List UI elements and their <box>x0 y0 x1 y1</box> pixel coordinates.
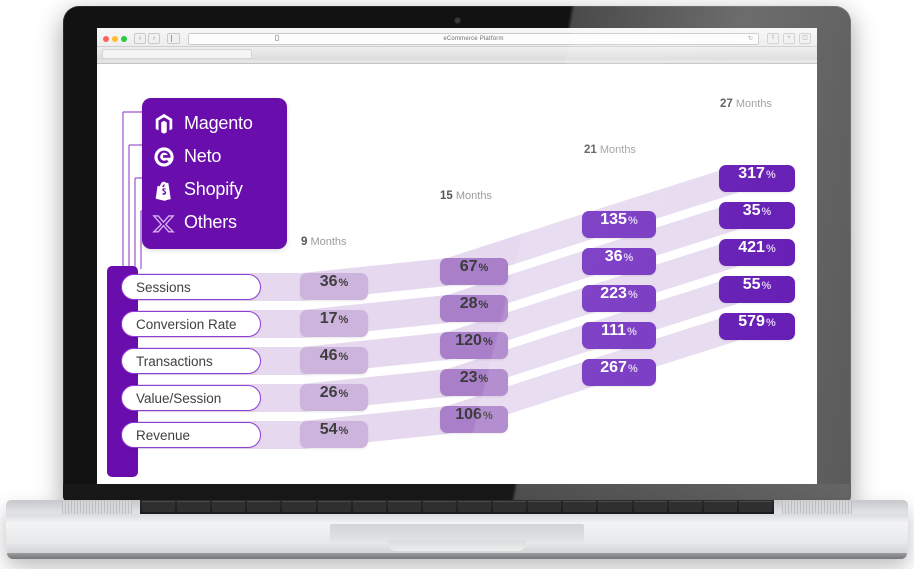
add-tab-icon[interactable]: + <box>783 33 795 44</box>
tabs-icon[interactable]: ◫ <box>799 33 811 44</box>
percent-symbol: % <box>762 206 772 218</box>
value-9m-transactions[interactable]: 46 % <box>300 347 368 374</box>
key <box>353 501 386 512</box>
value-number: 106 <box>455 406 482 424</box>
key <box>318 501 351 512</box>
browser-tab[interactable] <box>102 49 252 59</box>
column-header-unit: Months <box>310 236 346 248</box>
share-icon[interactable]: ⇧ <box>767 33 779 44</box>
value-number: 579 <box>738 313 765 331</box>
speaker-grille-right <box>782 501 852 514</box>
key <box>669 501 702 512</box>
base-front-notch <box>388 540 526 551</box>
value-9m-revenue[interactable]: 54 % <box>300 421 368 448</box>
percent-symbol: % <box>339 388 349 400</box>
bookmarks-bar[interactable] <box>97 46 817 60</box>
metric-label-value-session[interactable]: Value/Session <box>121 385 261 411</box>
key <box>598 501 631 512</box>
column-header-number: 27 <box>720 98 733 110</box>
navigation-buttons[interactable]: ‹ › <box>134 33 160 44</box>
minimize-window-button[interactable] <box>112 36 118 42</box>
value-number: 67 <box>460 258 478 276</box>
legend-label: Shopify <box>184 179 243 200</box>
forward-button[interactable]: › <box>148 33 160 44</box>
metric-label-conversion-rate[interactable]: Conversion Rate <box>121 311 261 337</box>
value-15m-revenue[interactable]: 106 % <box>440 406 508 433</box>
value-27m-value-session[interactable]: 55 % <box>719 276 795 303</box>
value-15m-sessions[interactable]: 67 % <box>440 258 508 285</box>
percent-symbol: % <box>339 425 349 437</box>
infographic-canvas: Magento Neto Shopify <box>97 64 817 484</box>
percent-symbol: % <box>766 243 776 255</box>
percent-symbol: % <box>762 280 772 292</box>
close-window-button[interactable] <box>103 36 109 42</box>
value-21m-transactions[interactable]: 223 % <box>582 285 656 312</box>
legend-label: Others <box>184 212 237 233</box>
address-bar[interactable]: eCommerce Platform ↻ <box>188 33 759 45</box>
key <box>493 501 526 512</box>
value-9m-value-session[interactable]: 26 % <box>300 384 368 411</box>
percent-symbol: % <box>766 169 776 181</box>
shopify-icon <box>152 178 175 201</box>
percent-symbol: % <box>628 289 638 301</box>
key <box>142 501 175 512</box>
column-header-9-months: 9 Months <box>301 236 347 248</box>
value-number: 111 <box>601 322 626 340</box>
percent-symbol: % <box>628 363 638 375</box>
column-header-number: 15 <box>440 190 453 202</box>
value-27m-conversion-rate[interactable]: 35 % <box>719 202 795 229</box>
value-9m-conversion-rate[interactable]: 17 % <box>300 310 368 337</box>
column-header-unit: Months <box>456 190 492 202</box>
column-header-21-months: 21 Months <box>584 144 636 156</box>
percent-symbol: % <box>628 215 638 227</box>
value-number: 46 <box>320 347 338 365</box>
key <box>704 501 737 512</box>
others-x-icon <box>152 211 175 234</box>
column-header-15-months: 15 Months <box>440 190 492 202</box>
value-number: 223 <box>600 285 627 303</box>
value-number: 35 <box>743 202 761 220</box>
column-header-unit: Months <box>600 144 636 156</box>
column-header-number: 21 <box>584 144 597 156</box>
toolbar-right-icons[interactable]: ⇧ + ◫ <box>767 33 811 44</box>
value-number: 135 <box>600 211 627 229</box>
percent-symbol: % <box>479 262 489 274</box>
webcam-icon <box>455 18 460 23</box>
laptop-screen: ‹ › eCommerce Platform ↻ ⇧ + ◫ <box>97 28 817 484</box>
browser-toolbar: ‹ › eCommerce Platform ↻ ⇧ + ◫ <box>97 28 817 46</box>
value-number: 55 <box>743 276 761 294</box>
key <box>212 501 245 512</box>
value-number: 267 <box>600 359 627 377</box>
legend-label: Neto <box>184 146 221 167</box>
percent-symbol: % <box>624 252 634 264</box>
legend-connector-lines <box>123 112 143 269</box>
value-21m-sessions[interactable]: 135 % <box>582 211 656 238</box>
value-number: 36 <box>605 248 623 266</box>
value-number: 120 <box>455 332 482 350</box>
metric-label-sessions[interactable]: Sessions <box>121 274 261 300</box>
value-number: 421 <box>738 239 765 257</box>
value-number: 28 <box>460 295 478 313</box>
key <box>563 501 596 512</box>
maximize-window-button[interactable] <box>121 36 127 42</box>
key <box>634 501 667 512</box>
value-9m-sessions[interactable]: 36 % <box>300 273 368 300</box>
value-15m-transactions[interactable]: 120 % <box>440 332 508 359</box>
metric-label-revenue[interactable]: Revenue <box>121 422 261 448</box>
percent-symbol: % <box>766 317 776 329</box>
percent-symbol: % <box>339 314 349 326</box>
key <box>282 501 315 512</box>
reload-icon[interactable]: ↻ <box>748 35 753 42</box>
value-number: 17 <box>320 310 338 328</box>
lock-icon <box>275 35 279 41</box>
window-controls[interactable] <box>103 36 127 42</box>
value-21m-revenue[interactable]: 267 % <box>582 359 656 386</box>
screenshot-stage: ‹ › eCommerce Platform ↻ ⇧ + ◫ <box>0 0 914 569</box>
key <box>388 501 421 512</box>
value-27m-transactions[interactable]: 421 % <box>719 239 795 266</box>
value-number: 317 <box>738 165 765 183</box>
base-foot <box>7 553 907 559</box>
magento-icon <box>152 112 175 135</box>
percent-symbol: % <box>483 336 493 348</box>
percent-symbol: % <box>479 373 489 385</box>
value-21m-conversion-rate[interactable]: 36 % <box>582 248 656 275</box>
platform-legend: Magento Neto Shopify <box>142 98 287 249</box>
column-header-unit: Months <box>736 98 772 110</box>
value-number: 23 <box>460 369 478 387</box>
value-15m-value-session[interactable]: 23 % <box>440 369 508 396</box>
value-27m-sessions[interactable]: 317 % <box>719 165 795 192</box>
percent-symbol: % <box>479 299 489 311</box>
browser-chrome: ‹ › eCommerce Platform ↻ ⇧ + ◫ <box>97 28 817 64</box>
key <box>177 501 210 512</box>
value-21m-value-session[interactable]: 111 % <box>582 322 656 349</box>
page-title: eCommerce Platform <box>443 36 503 42</box>
value-number: 54 <box>320 421 338 439</box>
legend-label: Magento <box>184 113 253 134</box>
legend-item-neto[interactable]: Neto <box>152 140 277 173</box>
legend-item-others[interactable]: Others <box>152 206 277 239</box>
percent-symbol: % <box>483 410 493 422</box>
key <box>247 501 280 512</box>
neto-icon <box>152 145 175 168</box>
value-15m-conversion-rate[interactable]: 28 % <box>440 295 508 322</box>
metric-label-transactions[interactable]: Transactions <box>121 348 261 374</box>
back-button[interactable]: ‹ <box>134 33 146 44</box>
legend-item-magento[interactable]: Magento <box>152 107 277 140</box>
keyboard-key-row <box>142 501 772 512</box>
percent-symbol: % <box>339 277 349 289</box>
key <box>458 501 491 512</box>
key <box>423 501 456 512</box>
column-header-27-months: 27 Months <box>720 98 772 110</box>
value-number: 26 <box>320 384 338 402</box>
value-27m-revenue[interactable]: 579 % <box>719 313 795 340</box>
percent-symbol: % <box>627 326 637 338</box>
percent-symbol: % <box>339 351 349 363</box>
value-number: 36 <box>320 273 338 291</box>
sidebar-toggle-icon[interactable] <box>167 33 180 44</box>
legend-item-shopify[interactable]: Shopify <box>152 173 277 206</box>
key <box>739 501 772 512</box>
speaker-grille-left <box>62 501 132 514</box>
column-header-number: 9 <box>301 236 307 248</box>
key <box>528 501 561 512</box>
